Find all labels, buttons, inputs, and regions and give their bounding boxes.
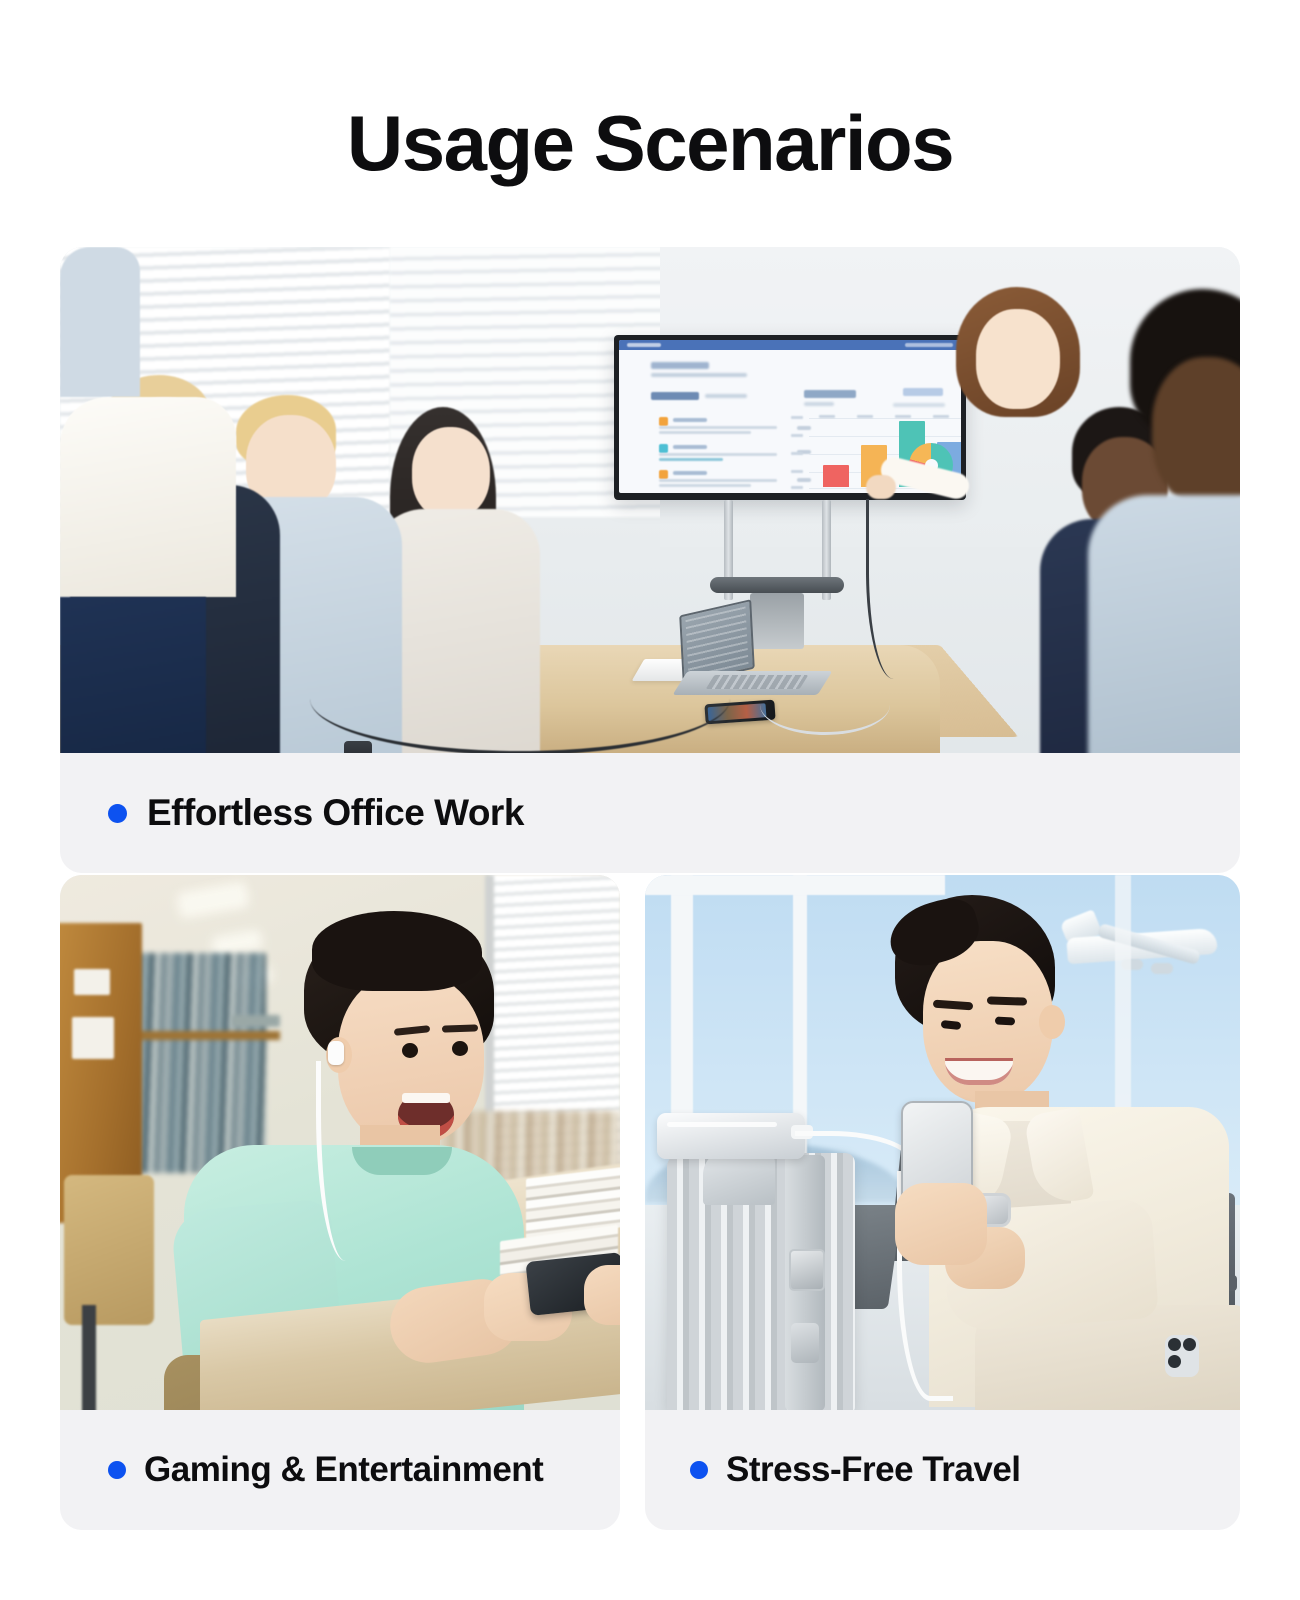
gaming-caption-label: Gaming & Entertainment xyxy=(144,1450,543,1490)
chart-y-tick-label xyxy=(791,434,803,437)
power-bank xyxy=(657,1113,805,1159)
attendee-3-head xyxy=(412,427,490,519)
traveller-eyebrow xyxy=(987,996,1027,1005)
gamer-fringe xyxy=(312,911,482,991)
attendee-1-shirt xyxy=(60,247,140,397)
traveller-ear xyxy=(1039,1005,1065,1039)
presenter-head xyxy=(976,309,1060,409)
bullet-dot-icon xyxy=(108,804,127,823)
office-meeting-image xyxy=(60,247,1240,753)
library-gaming-scene xyxy=(60,875,620,1410)
dashboard-title-blur xyxy=(651,362,709,369)
scenario-card-office[interactable]: Effortless Office Work xyxy=(60,247,1240,873)
bullet-dot-icon xyxy=(690,1461,708,1479)
chart-x-tick-label xyxy=(857,415,873,418)
attendee-6-head xyxy=(1152,357,1240,507)
gamer-teeth xyxy=(402,1093,450,1103)
chart-kpi-blur xyxy=(903,388,943,396)
traveller-hand xyxy=(895,1183,987,1265)
phone-camera-icon xyxy=(1165,1335,1199,1377)
gamer-eyebrow xyxy=(442,1024,478,1032)
gamer-eye xyxy=(452,1041,468,1056)
dashboard-list-value xyxy=(797,426,811,430)
chart-y-tick-label xyxy=(791,452,803,455)
gamer-eye xyxy=(402,1043,418,1058)
airport-travel-scene xyxy=(645,875,1240,1410)
chart-subtitle-blur xyxy=(804,402,834,406)
chart-x-tick-label xyxy=(895,415,911,418)
gamer-collar xyxy=(352,1147,452,1175)
chart-x-tick-label xyxy=(819,415,835,418)
bookshelf-books xyxy=(136,953,266,1173)
tv-stand-base xyxy=(750,593,804,649)
gaming-caption-bar: Gaming & Entertainment xyxy=(60,1410,620,1530)
chart-y-tick-label xyxy=(791,486,803,489)
dashboard-section-meta-blur xyxy=(705,394,747,398)
chair xyxy=(64,1175,154,1325)
attendee-6-shirt xyxy=(1088,495,1240,753)
window-header xyxy=(645,875,945,895)
chart-x-tick-label xyxy=(933,415,949,418)
chair-leg xyxy=(82,1305,96,1410)
dashboard-logo-icon xyxy=(627,343,661,347)
bullet-dot-icon xyxy=(108,1461,126,1479)
gaming-image xyxy=(60,875,620,1410)
suitcase-lock-icon xyxy=(789,1249,825,1291)
traveller-eye xyxy=(995,1016,1015,1025)
office-meeting-scene xyxy=(60,247,1240,753)
travel-caption-bar: Stress-Free Travel xyxy=(645,1410,1240,1530)
shelf-label xyxy=(74,969,110,995)
gamer-hand-right xyxy=(584,1265,620,1325)
chart-kpi-caption-blur xyxy=(893,403,945,407)
dashboard-subtitle-blur xyxy=(651,373,747,377)
suitcase-latch xyxy=(791,1323,819,1363)
tv-stand-crossbar xyxy=(710,577,844,593)
shelf-sign xyxy=(232,1015,280,1027)
dashboard-topbar xyxy=(619,340,961,350)
laptop-keyboard xyxy=(706,675,809,689)
chart-title-blur xyxy=(804,390,856,398)
bookshelf-plank xyxy=(130,1031,280,1040)
dashboard-list-item xyxy=(659,469,784,489)
dashboard-toolbar-icons xyxy=(905,343,953,347)
usage-scenarios-page: Usage Scenarios xyxy=(0,0,1300,1600)
scenario-card-gaming[interactable]: Gaming & Entertainment xyxy=(60,875,620,1530)
office-caption-label: Effortless Office Work xyxy=(147,792,524,834)
dashboard-list-item xyxy=(659,416,784,436)
shelf-label xyxy=(72,1017,114,1059)
chart-y-tick-label xyxy=(791,416,803,419)
dashboard-list-value xyxy=(797,478,811,482)
presenter-hand xyxy=(866,475,896,499)
dashboard-section-heading-blur xyxy=(651,392,699,400)
scenario-card-travel[interactable]: Stress-Free Travel xyxy=(645,875,1240,1530)
airplane-engine xyxy=(1151,963,1173,974)
travel-caption-label: Stress-Free Travel xyxy=(726,1450,1021,1490)
office-caption-bar: Effortless Office Work xyxy=(60,753,1240,873)
presenter-trousers xyxy=(60,597,206,753)
travel-image xyxy=(645,875,1240,1410)
chart-bar xyxy=(823,465,849,487)
dashboard-list-item xyxy=(659,443,784,463)
presenter-blouse xyxy=(60,397,236,597)
page-title: Usage Scenarios xyxy=(0,104,1300,182)
cable-plug xyxy=(344,741,372,753)
chart-y-tick-label xyxy=(791,470,803,473)
